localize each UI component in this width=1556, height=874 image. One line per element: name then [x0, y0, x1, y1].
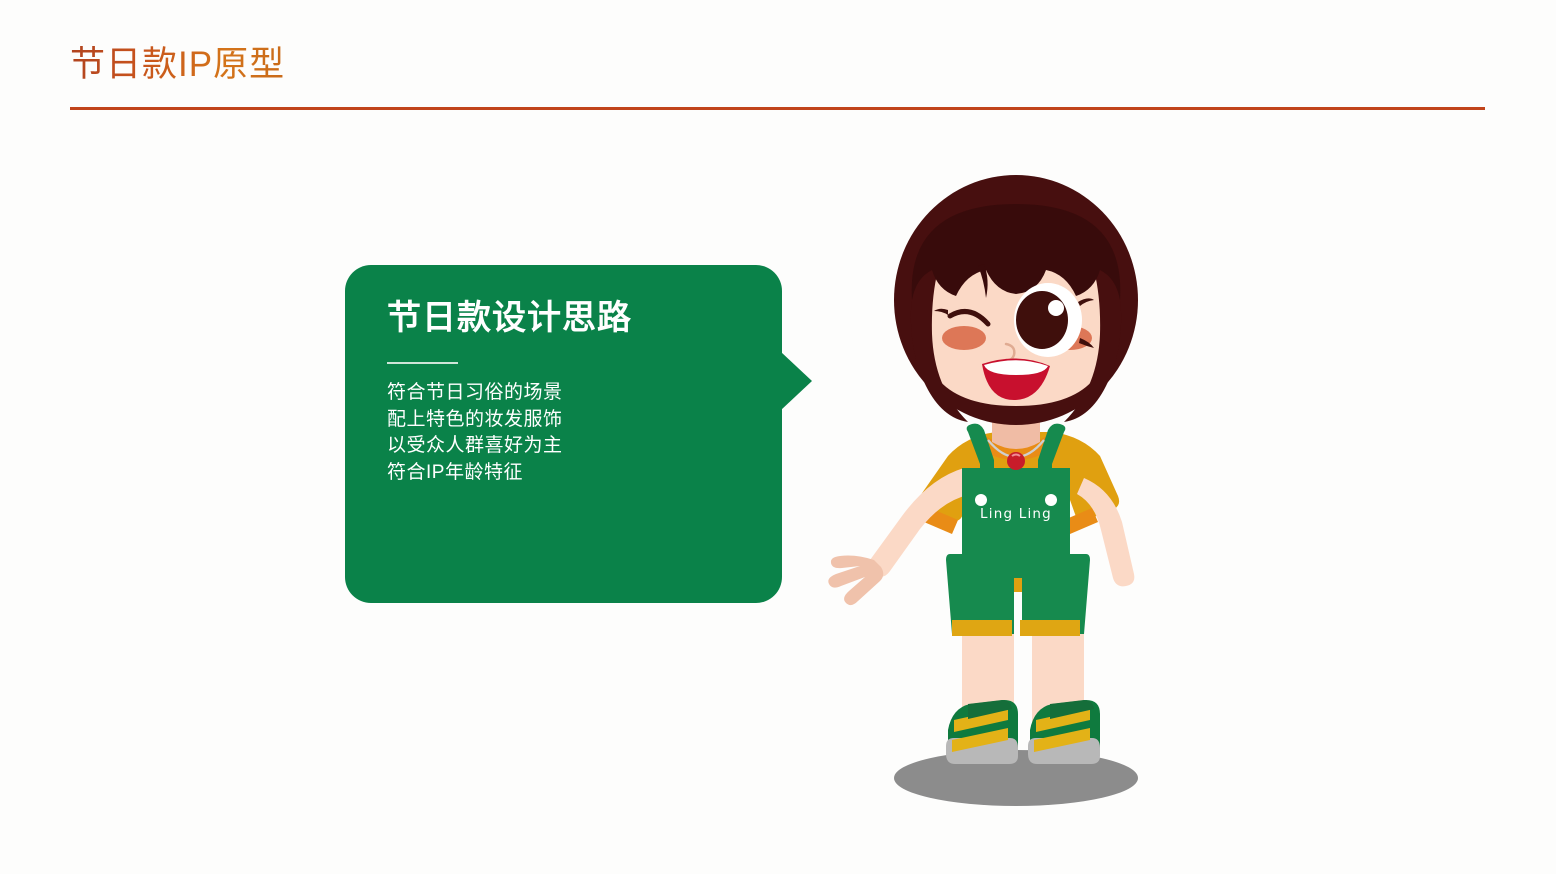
- eye-iris: [1016, 291, 1068, 349]
- bib-label: Ling Ling: [980, 506, 1052, 522]
- callout-heading-underline: [387, 362, 458, 364]
- overalls-button-right: [1045, 494, 1057, 506]
- callout-line: 以受众人群喜好为主: [387, 433, 717, 460]
- eye-highlight: [1048, 300, 1064, 316]
- hand-open: [828, 556, 883, 606]
- callout-body: 符合节日习俗的场景 配上特色的妆发服饰 以受众人群喜好为主 符合IP年龄特征: [387, 380, 717, 486]
- callout-line: 符合节日习俗的场景: [387, 380, 717, 407]
- callout-line: 配上特色的妆发服饰: [387, 407, 717, 434]
- callout-line: 符合IP年龄特征: [387, 460, 717, 487]
- callout-arrow-pointer: [781, 352, 812, 410]
- slide-canvas: 节日款IP原型 节日款设计思路 符合节日习俗的场景 配上特色的妆发服饰 以受众人…: [0, 0, 1556, 874]
- page-title: 节日款IP原型: [70, 42, 285, 88]
- callout-heading: 节日款设计思路: [387, 296, 632, 340]
- mascot-illustration: Ling Ling: [816, 168, 1206, 818]
- cheek-left: [942, 326, 986, 350]
- overalls-button-left: [975, 494, 987, 506]
- overalls-cuff-left: [952, 620, 1012, 636]
- shoe-left: [946, 700, 1018, 764]
- overalls-cuff-right: [1020, 620, 1080, 636]
- header-divider-rule: [70, 107, 1485, 110]
